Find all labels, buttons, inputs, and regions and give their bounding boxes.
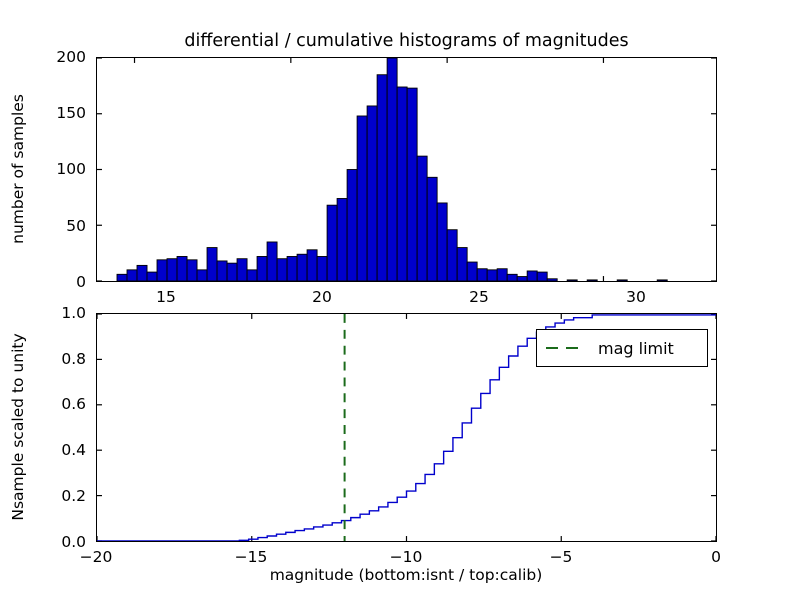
- top-xtick-label-30: 30: [626, 288, 646, 306]
- histogram-bar: [547, 279, 557, 281]
- histogram-bar: [247, 270, 257, 281]
- histogram-bar: [527, 271, 537, 281]
- histogram-bar: [307, 250, 317, 281]
- histogram-bar: [147, 272, 157, 281]
- histogram-bar: [297, 254, 307, 281]
- figure-canvas: differential / cumulative histograms of …: [0, 0, 800, 600]
- histogram-bar: [157, 260, 167, 281]
- histogram-bar: [617, 280, 627, 281]
- histogram-bar: [167, 259, 177, 281]
- legend: mag limit: [536, 329, 708, 367]
- bottom-ytick-label-1-0: 1.0: [30, 304, 86, 322]
- histogram-bar: [507, 274, 517, 281]
- histogram-bar: [357, 116, 367, 281]
- top-ytick-label-100: 100: [36, 160, 86, 178]
- top-ytick-label-200: 200: [36, 48, 86, 66]
- histogram-bar: [587, 280, 597, 281]
- bottom-ytick-label-0-4: 0.4: [30, 441, 86, 459]
- top-ytick-label-0: 0: [36, 273, 86, 291]
- bottom-xtick-label-minus10: −10: [390, 548, 423, 566]
- histogram-bar: [467, 262, 477, 281]
- top-xtick-label-25: 25: [469, 288, 489, 306]
- differential-histogram-plot: [97, 58, 716, 281]
- differential-histogram-axes: [96, 57, 717, 282]
- bottom-ytick-label-0-8: 0.8: [30, 350, 86, 368]
- bottom-yaxis-label: Nsample scaled to unity: [9, 333, 27, 520]
- histogram-bar: [227, 263, 237, 281]
- histogram-bar: [137, 265, 147, 281]
- histogram-bar: [237, 259, 247, 281]
- histogram-bar: [657, 280, 667, 281]
- bottom-ytick-label-0-2: 0.2: [30, 487, 86, 505]
- histogram-bar: [387, 58, 397, 281]
- bottom-xtick-label-0: 0: [711, 548, 721, 566]
- histogram-bar: [187, 260, 197, 281]
- histogram-bar: [567, 280, 577, 281]
- histogram-bar: [427, 177, 437, 281]
- bottom-xtick-label-minus5: −5: [550, 548, 573, 566]
- bottom-xtick-label-minus15: −15: [235, 548, 268, 566]
- histogram-bar: [537, 272, 547, 281]
- histogram-bar: [447, 230, 457, 281]
- top-ytick-label-150: 150: [36, 104, 86, 122]
- top-yaxis-label: number of samples: [9, 94, 27, 244]
- histogram-bar: [127, 270, 137, 281]
- bottom-ytick-label-0-0: 0.0: [30, 533, 86, 551]
- bottom-xtick-label-minus20: −20: [80, 548, 113, 566]
- histogram-bar: [337, 198, 347, 281]
- histogram-bar: [207, 248, 217, 281]
- histogram-bar: [497, 269, 507, 281]
- histogram-bar: [347, 170, 357, 282]
- histogram-bar: [417, 156, 427, 281]
- histogram-bar: [267, 242, 277, 281]
- histogram-bar: [487, 270, 497, 281]
- histogram-bar: [287, 256, 297, 281]
- top-xtick-label-15: 15: [156, 288, 176, 306]
- histogram-bar: [217, 261, 227, 281]
- histogram-bar: [117, 274, 127, 281]
- histogram-bar: [407, 88, 417, 281]
- legend-entry-label: mag limit: [598, 339, 674, 358]
- histogram-bar: [457, 248, 467, 281]
- histogram-bar: [327, 205, 337, 281]
- histogram-bar: [397, 87, 407, 281]
- top-ytick-label-50: 50: [36, 217, 86, 235]
- histogram-bar: [367, 106, 377, 281]
- histogram-bar: [377, 75, 387, 281]
- histogram-bar: [477, 269, 487, 281]
- histogram-bar: [277, 259, 287, 281]
- histogram-bar: [177, 256, 187, 281]
- histogram-bar: [197, 270, 207, 281]
- top-xtick-label-20: 20: [312, 288, 332, 306]
- bottom-ytick-label-0-6: 0.6: [30, 395, 86, 413]
- mag-limit-line-icon: [546, 347, 588, 349]
- histogram-bar: [317, 256, 327, 281]
- histogram-bar: [257, 256, 267, 281]
- histogram-bar: [437, 203, 447, 281]
- figure-title: differential / cumulative histograms of …: [96, 31, 717, 51]
- histogram-bar: [517, 277, 527, 281]
- bottom-xaxis-label: magnitude (bottom:isnt / top:calib): [270, 566, 543, 584]
